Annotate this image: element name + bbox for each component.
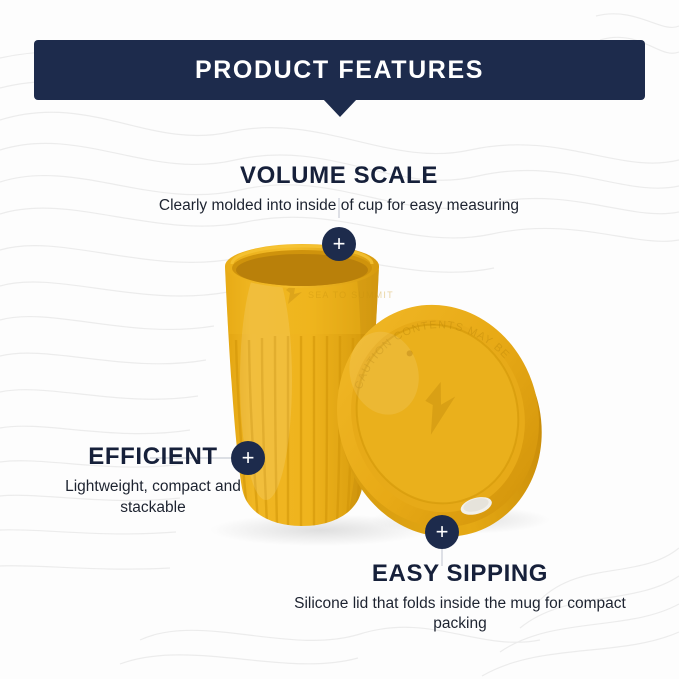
- header-banner-background: PRODUCT FEATURES: [34, 40, 645, 100]
- header-banner: PRODUCT FEATURES: [34, 40, 645, 100]
- feature-efficient-title: EFFICIENT: [58, 443, 248, 471]
- feature-volume-scale-title: VOLUME SCALE: [84, 162, 594, 190]
- feature-efficient-description: Lightweight, compact and stackable: [58, 477, 248, 519]
- plus-marker-volume-scale[interactable]: +: [322, 227, 356, 261]
- feature-easy-sipping-title: EASY SIPPING: [290, 560, 630, 588]
- feature-volume-scale: VOLUME SCALE Clearly molded into inside …: [84, 162, 594, 215]
- svg-text:SEA TO SUMMIT: SEA TO SUMMIT: [308, 290, 394, 300]
- plus-marker-efficient[interactable]: +: [231, 441, 265, 475]
- infographic-root: PRODUCT FEATURES: [0, 0, 679, 679]
- plus-marker-easy-sipping[interactable]: +: [425, 515, 459, 549]
- feature-efficient: EFFICIENT Lightweight, compact and stack…: [58, 443, 248, 519]
- page-title: PRODUCT FEATURES: [195, 56, 484, 85]
- feature-volume-scale-description: Clearly molded into inside of cup for ea…: [84, 196, 594, 215]
- feature-easy-sipping: EASY SIPPING Silicone lid that folds ins…: [290, 560, 630, 634]
- feature-easy-sipping-description: Silicone lid that folds inside the mug f…: [290, 594, 630, 634]
- banner-pointer-arrow: [323, 99, 357, 117]
